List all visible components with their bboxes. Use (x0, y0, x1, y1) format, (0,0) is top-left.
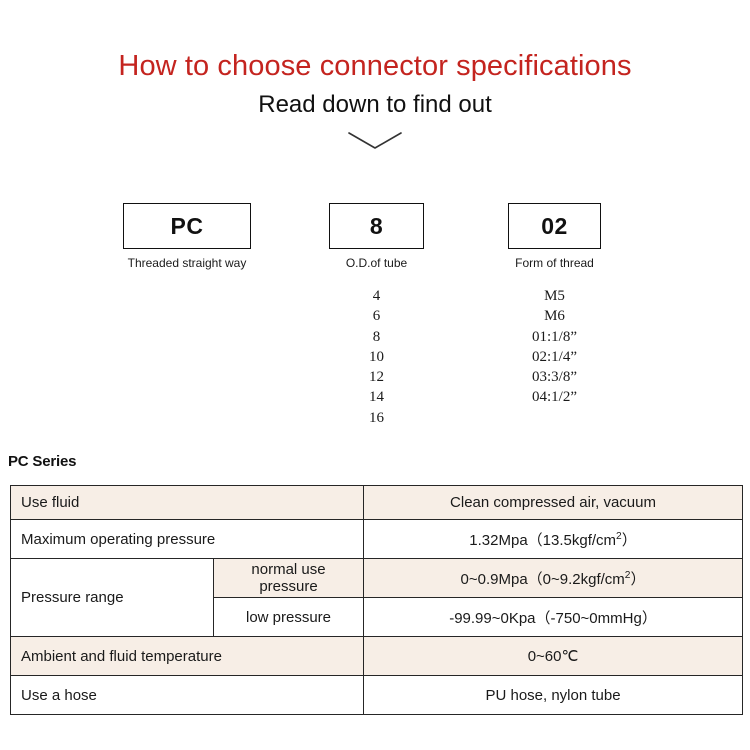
page-title: How to choose connector specifications (0, 48, 750, 84)
spec-sublabel: low pressure (214, 598, 364, 637)
part-number-selector: PC Threaded straight way 8 O.D.of tube 0… (0, 203, 750, 273)
thread-option[interactable]: 01:1/8” (493, 327, 616, 347)
thread-option-list: M5 M6 01:1/8” 02:1/4” 03:3/8” 04:1/2” (493, 286, 616, 408)
spec-label: Pressure range (11, 559, 214, 637)
page-subtitle: Read down to find out (0, 90, 750, 120)
thread-option[interactable]: 03:3/8” (493, 367, 616, 387)
thread-option[interactable]: M6 (493, 306, 616, 326)
table-row: Maximum operating pressure 1.32Mpa（13.5k… (11, 520, 743, 559)
od-option[interactable]: 8 (329, 327, 424, 347)
spec-value: PU hose, nylon tube (364, 676, 743, 715)
spec-value: 1.32Mpa（13.5kgf/cm2） (364, 520, 743, 559)
code-box-od-caption: O.D.of tube (329, 256, 424, 270)
spec-sublabel: normal use pressure (214, 559, 364, 598)
spec-table: Use fluid Clean compressed air, vacuum M… (10, 485, 743, 715)
code-box-series[interactable]: PC (123, 203, 251, 249)
spec-value-tail: ） (622, 532, 637, 549)
code-box-thread-value: 02 (541, 213, 568, 240)
spec-value: -99.99~0Kpa（-750~0mmHg） (364, 598, 743, 637)
od-option[interactable]: 14 (329, 387, 424, 407)
spec-value: 0~0.9Mpa（0~9.2kgf/cm2） (364, 559, 743, 598)
spec-value-text: 1.32Mpa（13.5kgf/cm (469, 532, 616, 549)
od-option[interactable]: 6 (329, 306, 424, 326)
code-box-series-value: PC (171, 213, 204, 240)
table-row: Pressure range normal use pressure 0~0.9… (11, 559, 743, 598)
spec-label: Ambient and fluid temperature (11, 637, 364, 676)
spec-label: Maximum operating pressure (11, 520, 364, 559)
code-box-thread[interactable]: 02 (508, 203, 601, 249)
od-option[interactable]: 4 (329, 286, 424, 306)
spec-value-tail: ） (630, 571, 645, 588)
code-box-od[interactable]: 8 (329, 203, 424, 249)
spec-label: Use fluid (11, 486, 364, 520)
spec-value: Clean compressed air, vacuum (364, 486, 743, 520)
od-option[interactable]: 10 (329, 347, 424, 367)
thread-option[interactable]: 04:1/2” (493, 387, 616, 407)
table-row: Ambient and fluid temperature 0~60℃ (11, 637, 743, 676)
spec-value-text: 0~0.9Mpa（0~9.2kgf/cm (461, 571, 625, 588)
code-box-series-caption: Threaded straight way (123, 256, 251, 270)
table-row: Use a hose PU hose, nylon tube (11, 676, 743, 715)
spec-label: Use a hose (11, 676, 364, 715)
od-option[interactable]: 16 (329, 408, 424, 428)
code-box-od-value: 8 (370, 213, 383, 240)
thread-option[interactable]: M5 (493, 286, 616, 306)
thread-option[interactable]: 02:1/4” (493, 347, 616, 367)
chevron-down-icon (0, 129, 750, 151)
page-header: How to choose connector specifications R… (0, 48, 750, 151)
code-box-thread-caption: Form of thread (508, 256, 601, 270)
series-label: PC Series (8, 453, 76, 470)
spec-value: 0~60℃ (364, 637, 743, 676)
od-option[interactable]: 12 (329, 367, 424, 387)
table-row: Use fluid Clean compressed air, vacuum (11, 486, 743, 520)
od-option-list: 4 6 8 10 12 14 16 (329, 286, 424, 428)
